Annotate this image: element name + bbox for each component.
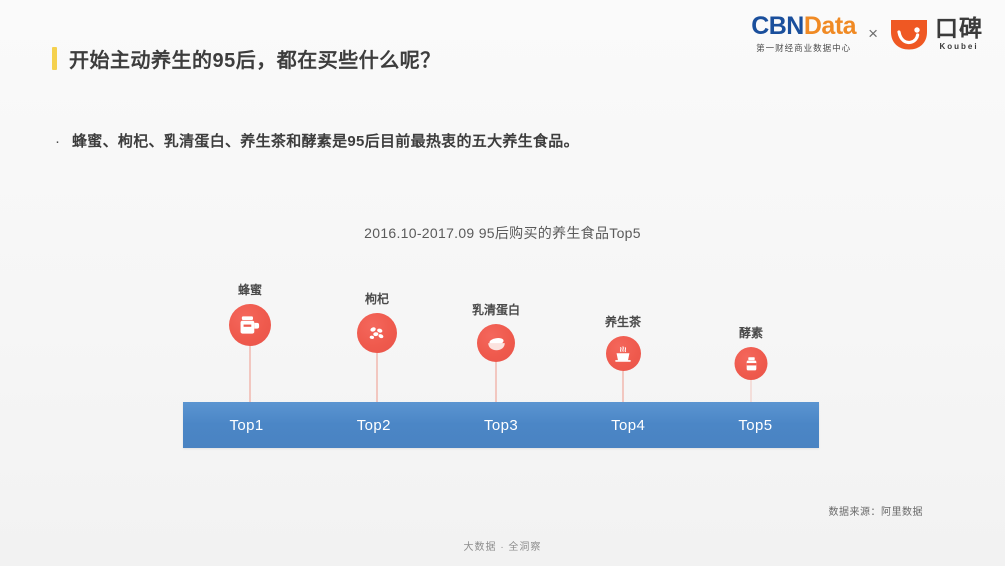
koubei-name-cn: 口碑 xyxy=(935,17,983,40)
title-accent-bar xyxy=(52,47,57,70)
page-title: 开始主动养生的95后，都在买些什么呢？ xyxy=(52,44,441,73)
rank-bar-cell[interactable]: Top2 xyxy=(310,417,437,434)
brand-lockup: CBNData 第一财经商业数据中心 × 口碑 Koubei xyxy=(751,14,983,54)
partnership-x-icon: × xyxy=(868,24,878,44)
rank-bar: Top1Top2Top3Top4Top5 xyxy=(183,402,819,448)
chart-pin[interactable]: 酵素 xyxy=(735,324,768,408)
chart-pin-stem xyxy=(376,353,378,408)
honey-jar-icon[interactable] xyxy=(229,304,271,346)
rank-bar-cell[interactable]: Top4 xyxy=(565,417,692,434)
koubei-name-en: Koubei xyxy=(939,42,978,51)
chart-pin[interactable]: 枸杞 xyxy=(357,290,397,408)
goji-berry-icon[interactable] xyxy=(357,313,397,353)
key-insight-bullet: · 蜂蜜、枸杞、乳清蛋白、养生茶和酵素是95后目前最热衷的五大养生食品。 xyxy=(55,130,579,151)
chart-pin-stem xyxy=(249,346,251,408)
chart-title: 2016.10-2017.09 95后购买的养生食品Top5 xyxy=(0,223,1005,243)
footer-slogan: 大数据 · 全洞察 xyxy=(0,538,1005,553)
chart-pin[interactable]: 乳清蛋白 xyxy=(472,301,520,408)
koubei-logo: 口碑 Koubei xyxy=(890,17,983,51)
cbndata-wordmark-primary: CBN xyxy=(751,12,804,40)
whey-protein-scoop-icon[interactable] xyxy=(477,324,515,362)
bullet-text: 蜂蜜、枸杞、乳清蛋白、养生茶和酵素是95后目前最热衷的五大养生食品。 xyxy=(72,130,579,151)
slide-canvas: CBNData 第一财经商业数据中心 × 口碑 Koubei 开始主动养生的95… xyxy=(0,0,1005,566)
koubei-wordmark: 口碑 Koubei xyxy=(935,17,983,51)
chart-pin-label: 乳清蛋白 xyxy=(472,301,520,318)
rank-bar-cell[interactable]: Top5 xyxy=(692,417,819,434)
cbndata-wordmark-secondary: Data xyxy=(804,12,856,40)
cbndata-wordmark: CBNData xyxy=(751,14,856,39)
enzyme-bottle-icon[interactable] xyxy=(735,347,768,380)
data-source-note: 数据来源：阿里数据 xyxy=(829,503,924,518)
chart-pin-label: 蜂蜜 xyxy=(238,281,262,298)
chart-pin-label: 养生茶 xyxy=(605,313,641,330)
tea-cup-icon[interactable] xyxy=(605,336,640,371)
rank-bar-cell[interactable]: Top1 xyxy=(183,417,310,434)
chart-pin[interactable]: 养生茶 xyxy=(605,313,641,408)
cbndata-subtitle: 第一财经商业数据中心 xyxy=(756,42,851,54)
koubei-smile-icon xyxy=(890,18,928,50)
chart-pin[interactable]: 蜂蜜 xyxy=(229,281,271,408)
cbndata-logo: CBNData 第一财经商业数据中心 xyxy=(751,14,856,54)
chart-pin-label: 酵素 xyxy=(739,324,763,341)
rank-bar-cell[interactable]: Top3 xyxy=(437,417,564,434)
title-text: 开始主动养生的95后，都在买些什么呢？ xyxy=(69,44,441,73)
chart-pin-label: 枸杞 xyxy=(365,290,389,307)
bullet-marker-icon: · xyxy=(55,134,60,149)
